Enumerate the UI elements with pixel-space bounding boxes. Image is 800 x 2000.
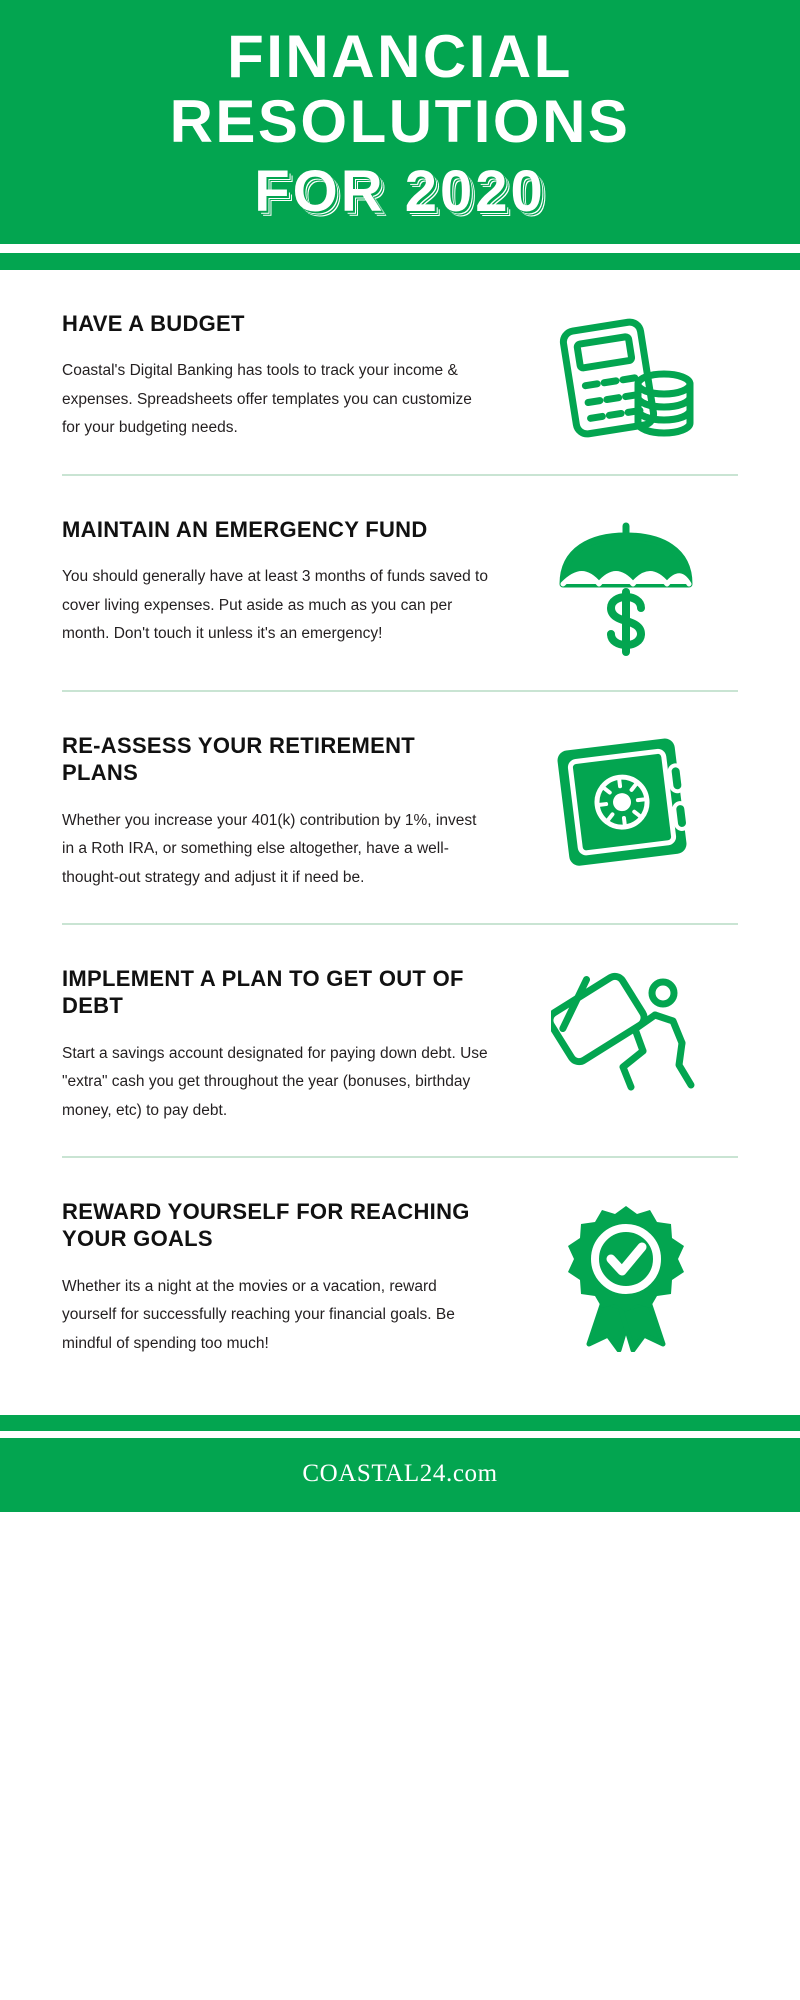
section-icon-wrap xyxy=(492,726,760,876)
safe-vault-icon xyxy=(551,736,701,876)
section-text-block: MAINTAIN AN EMERGENCY FUND You should ge… xyxy=(62,510,492,650)
section-heading: MAINTAIN AN EMERGENCY FUND xyxy=(62,516,492,544)
footer-accent-band xyxy=(0,1415,800,1431)
footer-website-text[interactable]: COASTAL24.com xyxy=(302,1460,497,1487)
award-badge-check-icon xyxy=(551,1202,701,1352)
footer: COASTAL24.com xyxy=(0,1415,800,1512)
section-icon-wrap xyxy=(492,959,760,1114)
section-heading: REWARD YOURSELF FOR REACHING YOUR GOALS xyxy=(62,1198,492,1253)
section-text-block: REWARD YOURSELF FOR REACHING YOUR GOALS … xyxy=(62,1192,492,1359)
section-heading: IMPLEMENT A PLAN TO GET OUT OF DEBT xyxy=(62,965,492,1020)
section-body: Coastal's Digital Banking has tools to t… xyxy=(62,357,492,443)
calculator-coins-icon xyxy=(551,314,701,444)
title-line-2: RESOLUTIONS xyxy=(0,91,800,152)
section-icon-wrap xyxy=(492,510,760,660)
section-text-block: RE-ASSESS YOUR RETIREMENT PLANS Whether … xyxy=(62,726,492,893)
infographic-page: FINANCIAL RESOLUTIONS FOR 2020 HAVE A BU… xyxy=(0,0,800,2000)
title-line-3-year: FOR 2020 xyxy=(0,162,800,221)
section-heading: RE-ASSESS YOUR RETIREMENT PLANS xyxy=(62,732,492,787)
section-icon-wrap xyxy=(492,1192,760,1352)
section-text-block: IMPLEMENT A PLAN TO GET OUT OF DEBT Star… xyxy=(62,959,492,1126)
title-line-1: FINANCIAL xyxy=(0,26,800,87)
section-retirement-plans: RE-ASSESS YOUR RETIREMENT PLANS Whether … xyxy=(0,692,800,923)
section-emergency-fund: MAINTAIN AN EMERGENCY FUND You should ge… xyxy=(0,476,800,690)
section-text-block: HAVE A BUDGET Coastal's Digital Banking … xyxy=(62,304,492,444)
section-body: Whether you increase your 401(k) contrib… xyxy=(62,807,492,893)
header-banner: FINANCIAL RESOLUTIONS FOR 2020 xyxy=(0,0,800,244)
running-person-credit-card-icon xyxy=(551,969,701,1114)
umbrella-dollar-icon xyxy=(551,520,701,660)
section-icon-wrap xyxy=(492,304,760,444)
section-heading: HAVE A BUDGET xyxy=(62,310,492,338)
header-band-gap xyxy=(0,244,800,253)
header-accent-band xyxy=(0,253,800,270)
section-reward-yourself: REWARD YOURSELF FOR REACHING YOUR GOALS … xyxy=(0,1158,800,1389)
section-body: Start a savings account designated for p… xyxy=(62,1040,492,1126)
footer-main-band: COASTAL24.com xyxy=(0,1438,800,1512)
footer-band-gap xyxy=(0,1431,800,1438)
section-get-out-of-debt: IMPLEMENT A PLAN TO GET OUT OF DEBT Star… xyxy=(0,925,800,1156)
sections-container: HAVE A BUDGET Coastal's Digital Banking … xyxy=(0,270,800,1389)
section-have-a-budget: HAVE A BUDGET Coastal's Digital Banking … xyxy=(0,270,800,474)
section-body: Whether its a night at the movies or a v… xyxy=(62,1273,492,1359)
section-body: You should generally have at least 3 mon… xyxy=(62,563,492,649)
